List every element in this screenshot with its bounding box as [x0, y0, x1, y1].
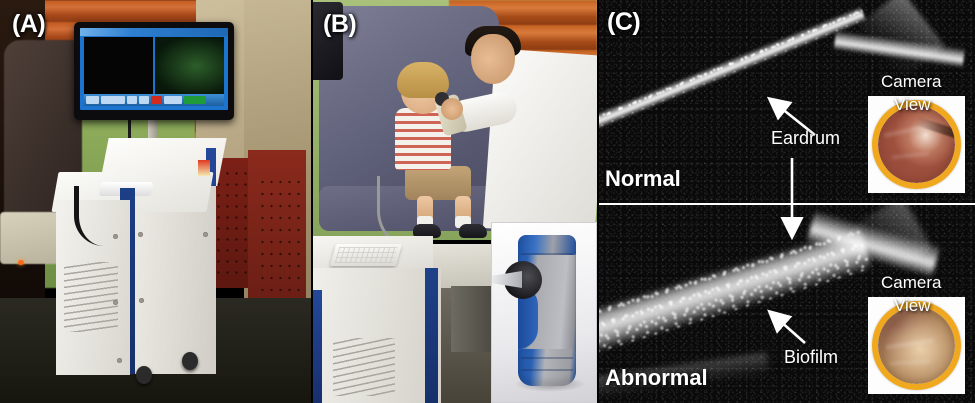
cart-screw [117, 358, 122, 363]
clinician-head [471, 34, 515, 84]
inset-caption-view-normal: View [894, 95, 931, 115]
clinician-hand [441, 98, 463, 120]
cart-blue-trim-left [313, 290, 322, 403]
figure-root: (A) [0, 0, 975, 403]
toolbar-chip [86, 96, 99, 104]
probe-seam [521, 253, 573, 255]
toolbar-chip [127, 96, 137, 104]
oct-state-label-abnormal: Abnormal [605, 365, 708, 391]
cart-caster-wheel [182, 352, 198, 370]
toolbar-chip [139, 96, 149, 104]
probe-seam [521, 369, 573, 371]
panel-a-photo [0, 0, 311, 403]
oct-state-label-normal: Normal [605, 166, 681, 192]
toolbar-chip [101, 96, 125, 104]
software-view-area [84, 37, 224, 95]
toolbar-record-chip [151, 96, 162, 104]
warning-label [198, 160, 210, 176]
probe-speculum-tip [491, 271, 522, 288]
inset-caption-camera-normal: Camera [881, 72, 941, 92]
annotation-biofilm: Biofilm [784, 347, 838, 368]
software-title-bar [80, 28, 228, 36]
monitor-edge [313, 2, 343, 80]
probe-seam [521, 357, 573, 359]
probe-cad-inset [491, 222, 597, 403]
exam-table-base [451, 286, 495, 352]
annotation-eardrum: Eardrum [771, 128, 840, 149]
inset-caption-view-abnormal: View [894, 296, 931, 316]
oct-image-normal: Eardrum Camera View Normal [599, 0, 975, 203]
child-shoe [459, 224, 487, 238]
cart-caster-wheel [136, 366, 152, 384]
probe-top-cap [518, 235, 576, 255]
panel-a-imaging-cart: (A) [0, 0, 311, 403]
panel-b-clinical-use: (B) [313, 0, 597, 403]
oct-view-pane [84, 37, 153, 95]
cart-screw [203, 232, 208, 237]
keyboard-keys [335, 247, 398, 263]
cart-side-panel [130, 186, 216, 374]
keyboard [330, 244, 402, 266]
inset-caption-camera-abnormal: Camera [881, 273, 941, 293]
cart-screw [113, 234, 118, 239]
monitor-screen [80, 28, 228, 110]
panel-b-photo [313, 0, 597, 403]
toolbar-status-chip [184, 96, 206, 104]
cart-screw [113, 300, 118, 305]
panel-c-oct-images: Eardrum Camera View Normal [599, 0, 975, 403]
cart-ventilation-grille [333, 338, 395, 396]
toolbar-chip [164, 96, 182, 104]
cart-screw [138, 232, 143, 237]
cart-screw [139, 298, 144, 303]
software-toolbar [84, 94, 224, 106]
cart-ventilation-grille [64, 262, 118, 332]
probe-grip [518, 349, 576, 386]
oct-image-abnormal: Biofilm Camera View Abnormal [599, 205, 975, 403]
chair-indicator-light [18, 260, 24, 265]
display-monitor [74, 22, 234, 120]
panel-c-divider [599, 203, 975, 205]
cart-blue-trim [425, 268, 438, 403]
camera-view-pane [155, 37, 224, 95]
